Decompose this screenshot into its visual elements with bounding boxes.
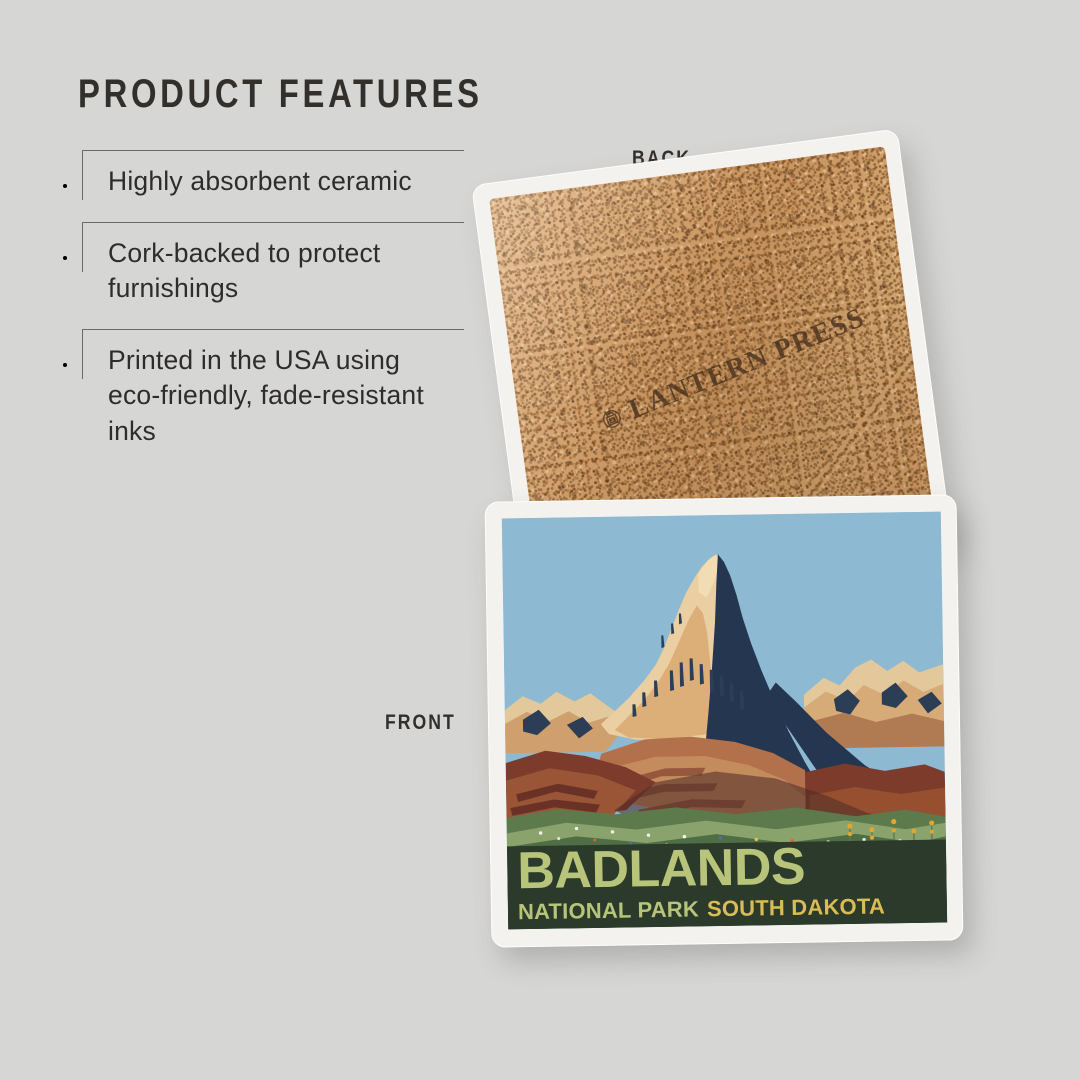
list-item: Cork-backed to protect furnishings <box>78 222 450 307</box>
poster-subtitle-state: SOUTH DAKOTA <box>707 893 885 922</box>
divider <box>82 329 464 330</box>
bracket-tick <box>82 329 83 379</box>
product-features-panel: PRODUCT FEATURES Highly absorbent cerami… <box>78 74 450 471</box>
product-feature-card: PRODUCT FEATURES Highly absorbent cerami… <box>0 0 1080 1080</box>
page-title: PRODUCT FEATURES <box>78 74 383 114</box>
feature-text: Printed in the USA using eco-friendly, f… <box>108 345 424 446</box>
poster-title: BADLANDS <box>517 842 939 896</box>
divider <box>82 222 464 223</box>
poster-title-band: BADLANDS NATIONAL PARK SOUTH DAKOTA <box>507 840 947 930</box>
label-front: FRONT <box>385 711 456 735</box>
feature-text: Cork-backed to protect furnishings <box>108 238 380 304</box>
poster-artwork: BADLANDS NATIONAL PARK SOUTH DAKOTA <box>502 512 947 930</box>
brand-stamp: LANTERN PRESS <box>595 301 869 437</box>
list-item: Printed in the USA using eco-friendly, f… <box>78 329 450 450</box>
brand-name: LANTERN PRESS <box>624 301 869 425</box>
bracket-tick <box>82 222 83 272</box>
bracket-tick <box>82 150 83 200</box>
feature-list: Highly absorbent ceramic Cork-backed to … <box>78 150 450 449</box>
coaster-front[interactable]: BADLANDS NATIONAL PARK SOUTH DAKOTA <box>485 494 964 947</box>
lantern-icon <box>597 403 626 434</box>
divider <box>82 150 464 151</box>
poster-subtitle-park: NATIONAL PARK <box>518 896 699 925</box>
feature-text: Highly absorbent ceramic <box>108 166 412 196</box>
list-item: Highly absorbent ceramic <box>78 150 450 200</box>
